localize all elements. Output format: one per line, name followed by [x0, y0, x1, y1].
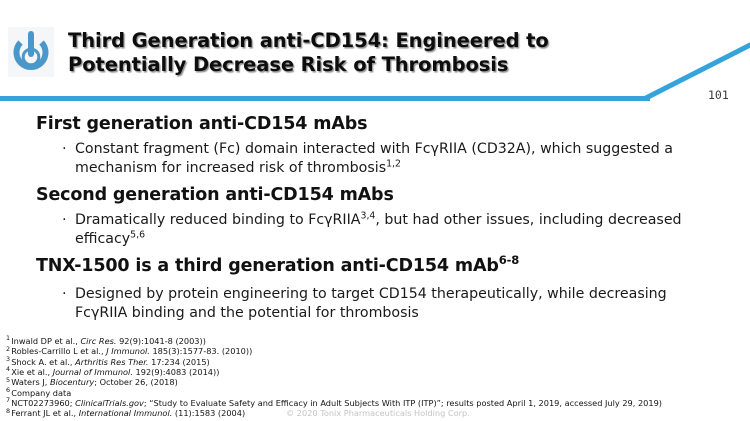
copyright-notice: © 2020 Tonix Pharmaceuticals Holding Cor…	[286, 408, 470, 418]
footnote-text: Company data	[11, 388, 71, 398]
footnote-text: Inwald DP et al.,	[11, 336, 80, 346]
footnote-marker: 6	[6, 386, 10, 394]
section-heading-tnx-1500: TNX-1500 is a third generation anti-CD15…	[36, 256, 519, 276]
bullet-superscript: 1,2	[386, 158, 401, 169]
bullet-first-generation: · Constant fragment (Fc) domain interact…	[62, 140, 702, 178]
footnote-citation: 92(9):1041-8 (2003))	[117, 336, 206, 346]
footnote-marker: 3	[6, 355, 10, 363]
accent-rule-diagonal	[640, 42, 750, 102]
footnote-citation: ; “Study to Evaluate Safety and Efficacy…	[144, 398, 662, 408]
footnote-text: Xie et al.,	[11, 367, 52, 377]
slide-number: 101	[708, 88, 729, 102]
page-title-line2: Potentially Decrease Risk of Thrombosis	[68, 53, 508, 76]
page-title-line1: Third Generation anti-CD154: Engineered …	[68, 29, 549, 52]
bullet-text: Designed by protein engineering to targe…	[75, 285, 702, 323]
bullet-second-generation: · Dramatically reduced binding to FcγRII…	[62, 211, 702, 249]
footnote-journal: J Immunol.	[106, 346, 150, 356]
page-title: Third Generation anti-CD154: Engineered …	[68, 29, 638, 77]
footnote-journal: International Immunol.	[79, 408, 173, 418]
footnote-item: 1Inwald DP et al., Circ Res. 92(9):1041-…	[6, 336, 750, 346]
footnote-item: 7NCT02273960; ClinicalTrials.gov; “Study…	[6, 398, 750, 408]
bullet-tnx-1500: · Designed by protein engineering to tar…	[62, 285, 702, 323]
footnote-text: Robles-Carrillo L et al.,	[11, 346, 106, 356]
footnote-marker: 4	[6, 365, 10, 373]
footnote-citation: 185(3):1577-83. (2010))	[150, 346, 252, 356]
bullet-marker-icon: ·	[62, 211, 75, 230]
footnote-citation: 192(9):4083 (2014))	[133, 367, 219, 377]
footnote-text: NCT02273960;	[11, 398, 75, 408]
slide-header: Third Generation anti-CD154: Engineered …	[0, 0, 750, 104]
footnote-list: 1Inwald DP et al., Circ Res. 92(9):1041-…	[6, 336, 750, 419]
bullet-marker-icon: ·	[62, 285, 75, 304]
bullet-text: Dramatically reduced binding to FcγRIIA3…	[75, 211, 702, 249]
bullet-text-main: Designed by protein engineering to targe…	[75, 286, 667, 321]
footnote-journal: Circ Res.	[80, 336, 116, 346]
footnote-marker: 8	[6, 407, 10, 415]
footnote-marker: 2	[6, 345, 10, 353]
footnote-text: Shock A. et al.,	[11, 357, 75, 367]
footnote-citation: (11):1583 (2004)	[172, 408, 245, 418]
bullet-superscript: 3,4	[360, 210, 375, 221]
footnote-journal: ClinicalTrials.gov	[75, 398, 144, 408]
footnote-journal: Journal of Immunol.	[53, 367, 133, 377]
footnote-marker: 5	[6, 376, 10, 384]
footnote-item: 4Xie et al., Journal of Immunol. 192(9):…	[6, 367, 750, 377]
bullet-marker-icon: ·	[62, 140, 75, 159]
footnote-marker: 7	[6, 396, 10, 404]
footnote-journal: Arthritis Res Ther.	[75, 357, 148, 367]
bullet-text-main: Dramatically reduced binding to FcγRIIA	[75, 212, 360, 228]
footnote-item: 3Shock A. et al., Arthritis Res Ther. 17…	[6, 357, 750, 367]
footnote-citation: 17:234 (2015)	[149, 357, 210, 367]
accent-rule-horizontal	[0, 96, 650, 101]
footnote-item: 5Waters J, Biocentury; October 26, (2018…	[6, 377, 750, 387]
footnote-text: Ferrant JL et al.,	[11, 408, 78, 418]
slide: Third Generation anti-CD154: Engineered …	[0, 0, 750, 421]
slide-body: First generation anti-CD154 mAbs · Const…	[0, 104, 750, 330]
bullet-text-main: Constant fragment (Fc) domain interacted…	[75, 141, 673, 176]
bullet-superscript-2: 5,6	[130, 229, 145, 240]
section-heading-superscript: 6-8	[499, 253, 519, 267]
footnote-citation: ; October 26, (2018)	[94, 377, 178, 387]
footnote-item: 2Robles-Carrillo L et al., J Immunol. 18…	[6, 346, 750, 356]
tonix-power-logo-icon	[8, 27, 54, 77]
bullet-text: Constant fragment (Fc) domain interacted…	[75, 140, 702, 178]
section-heading-first-generation: First generation anti-CD154 mAbs	[36, 114, 367, 134]
footnote-item: 6Company data	[6, 388, 750, 398]
section-heading-second-generation: Second generation anti-CD154 mAbs	[36, 185, 394, 205]
section-heading-text: TNX-1500 is a third generation anti-CD15…	[36, 256, 499, 276]
footnote-marker: 1	[6, 334, 10, 342]
footnote-text: Waters J,	[11, 377, 50, 387]
footnote-journal: Biocentury	[50, 377, 94, 387]
